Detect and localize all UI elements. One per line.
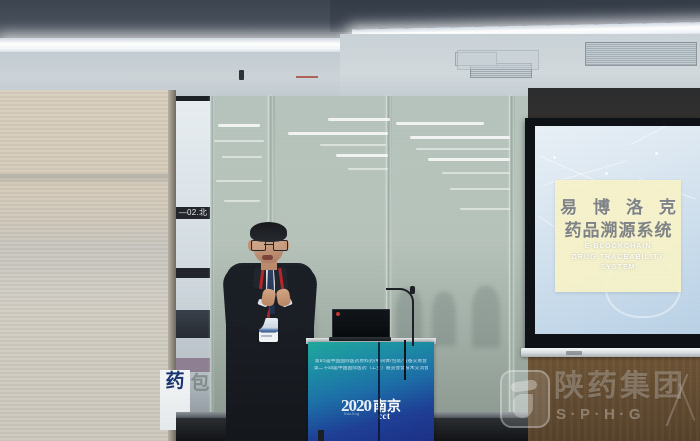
glasses-icon bbox=[251, 240, 286, 249]
ceiling-sensor-icon bbox=[239, 70, 244, 80]
slide-bg-line bbox=[631, 126, 693, 145]
laptop-logo-icon bbox=[336, 312, 340, 316]
microphone-head-icon bbox=[410, 286, 415, 294]
slide-bg-node bbox=[655, 152, 658, 155]
speaker-mouth bbox=[262, 255, 273, 260]
glasses-lens-left bbox=[251, 240, 266, 251]
slide-subtitle-en: E-BLOCKCHAIN DRUG TRACEABILITY SYSTEM bbox=[555, 242, 681, 274]
slide-title-cn-line1: 易 博 洛 克 bbox=[555, 193, 681, 218]
glass-reflection bbox=[222, 156, 262, 158]
glass-reflection bbox=[442, 172, 510, 174]
glass-reflection bbox=[214, 140, 264, 142]
room-number-sign: —02.北 bbox=[176, 207, 210, 219]
glass-reflection bbox=[224, 200, 260, 202]
glasses-bridge bbox=[264, 244, 273, 245]
glass-reflection bbox=[328, 118, 390, 121]
slide-subtitle-line1: E-BLOCKCHAIN bbox=[555, 242, 681, 253]
glass-reflection bbox=[410, 136, 510, 139]
logo-subtext: NanJing bbox=[344, 412, 359, 416]
glasses-lens-right bbox=[273, 240, 288, 251]
slide-title-cn-line2: 药品溯源系统 bbox=[555, 216, 681, 241]
glass-reflection bbox=[460, 208, 510, 210]
projection-screen-roller-bar bbox=[521, 348, 700, 357]
podium-stand bbox=[318, 430, 324, 441]
laptop-base bbox=[329, 337, 391, 341]
glass-reflection bbox=[320, 144, 386, 146]
left-curtain-wall bbox=[0, 90, 175, 441]
glass-reflection bbox=[216, 180, 262, 182]
badge-text-line bbox=[261, 331, 276, 333]
roller-brand-mark bbox=[566, 351, 582, 355]
ceiling-access-panel-2 bbox=[457, 50, 539, 70]
glass-reflection bbox=[218, 124, 260, 127]
podium-headline-line2: 第二十四届中国国际医药（工业）展览会暨技术交流会 bbox=[314, 366, 428, 372]
slide-title-card: 易 博 洛 克 药品溯源系统 E-BLOCKCHAIN DRUG TRACEAB… bbox=[555, 180, 681, 292]
microphone-gooseneck bbox=[386, 288, 414, 346]
slide-subtitle-line3: SYSTEM bbox=[555, 263, 681, 274]
glass-reflection bbox=[348, 168, 388, 170]
podium-banner: 第85届中国国际医药原料药/中间体/包装/设备交易会 第二十四届中国国际医药（工… bbox=[308, 342, 434, 441]
air-vent-grille-2 bbox=[585, 42, 697, 66]
glass-reflection bbox=[416, 148, 510, 150]
podium-headline-line1: 第85届中国国际医药原料药/中间体/包装/设备交易会 bbox=[314, 359, 428, 365]
laptop-screen bbox=[332, 309, 390, 340]
photo-scene: —02.北 药 包 bbox=[0, 0, 700, 441]
microphone-cable bbox=[404, 340, 406, 380]
doorway-divider bbox=[176, 268, 210, 278]
podium-seam bbox=[378, 342, 380, 441]
badge-text-line bbox=[261, 335, 272, 337]
glass-reflection bbox=[396, 122, 484, 125]
glass-reflection bbox=[450, 188, 510, 190]
slide-bg-node bbox=[553, 156, 556, 159]
glass-reflection bbox=[428, 158, 510, 161]
glass-reflection bbox=[288, 132, 388, 135]
glass-reflection bbox=[336, 154, 388, 157]
doorway-dark-panel bbox=[176, 310, 210, 338]
speaker-hair bbox=[250, 222, 287, 242]
slide-bg-node bbox=[605, 172, 608, 175]
background-silhouette bbox=[472, 286, 500, 348]
doorway-header-bar bbox=[176, 96, 210, 101]
podium-event-logo: 2020南京 cct NanJing bbox=[308, 396, 434, 416]
slide-subtitle-line2: DRUG TRACEABILITY bbox=[555, 253, 681, 264]
speaker-hand-right bbox=[276, 288, 292, 307]
ceiling-wire bbox=[296, 76, 318, 78]
glass-mullion-0 bbox=[210, 96, 213, 441]
